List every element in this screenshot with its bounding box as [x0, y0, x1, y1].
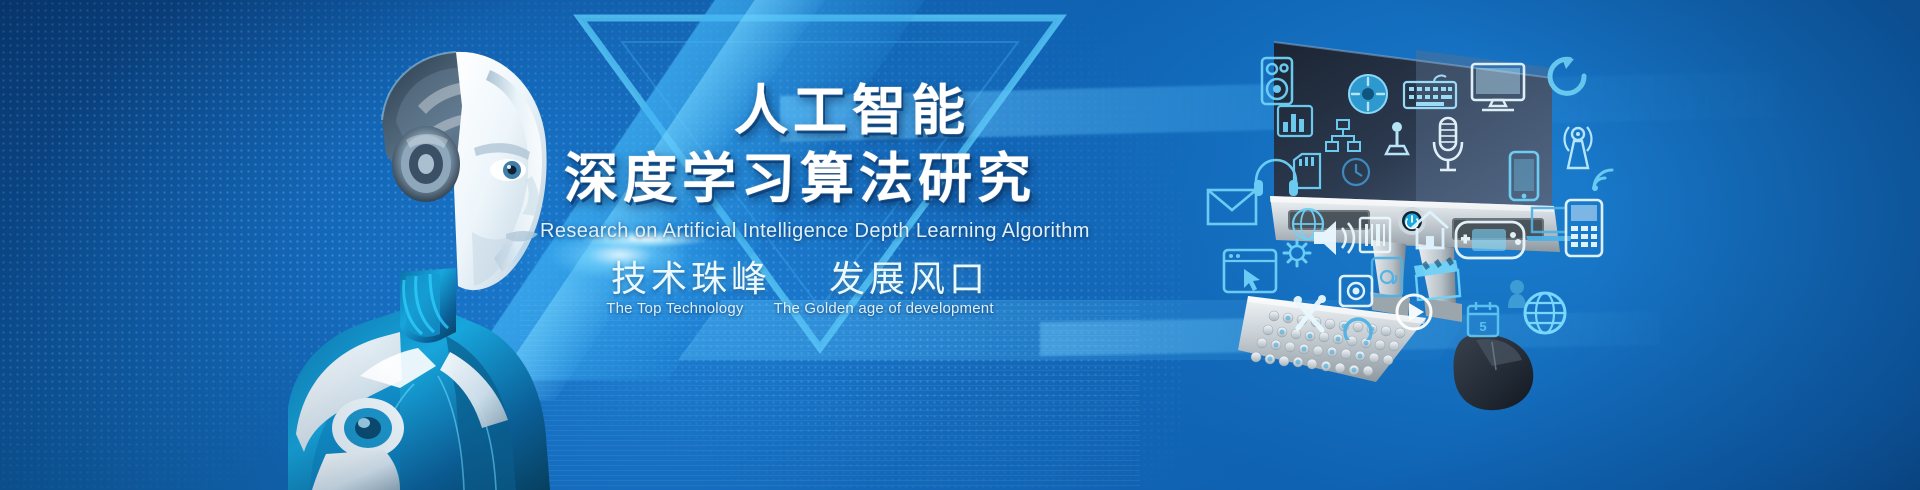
ai-banner: 人工智能 深度学习算法研究 Research on Artificial Int… — [0, 0, 1920, 490]
vignette-overlay — [0, 0, 1920, 490]
